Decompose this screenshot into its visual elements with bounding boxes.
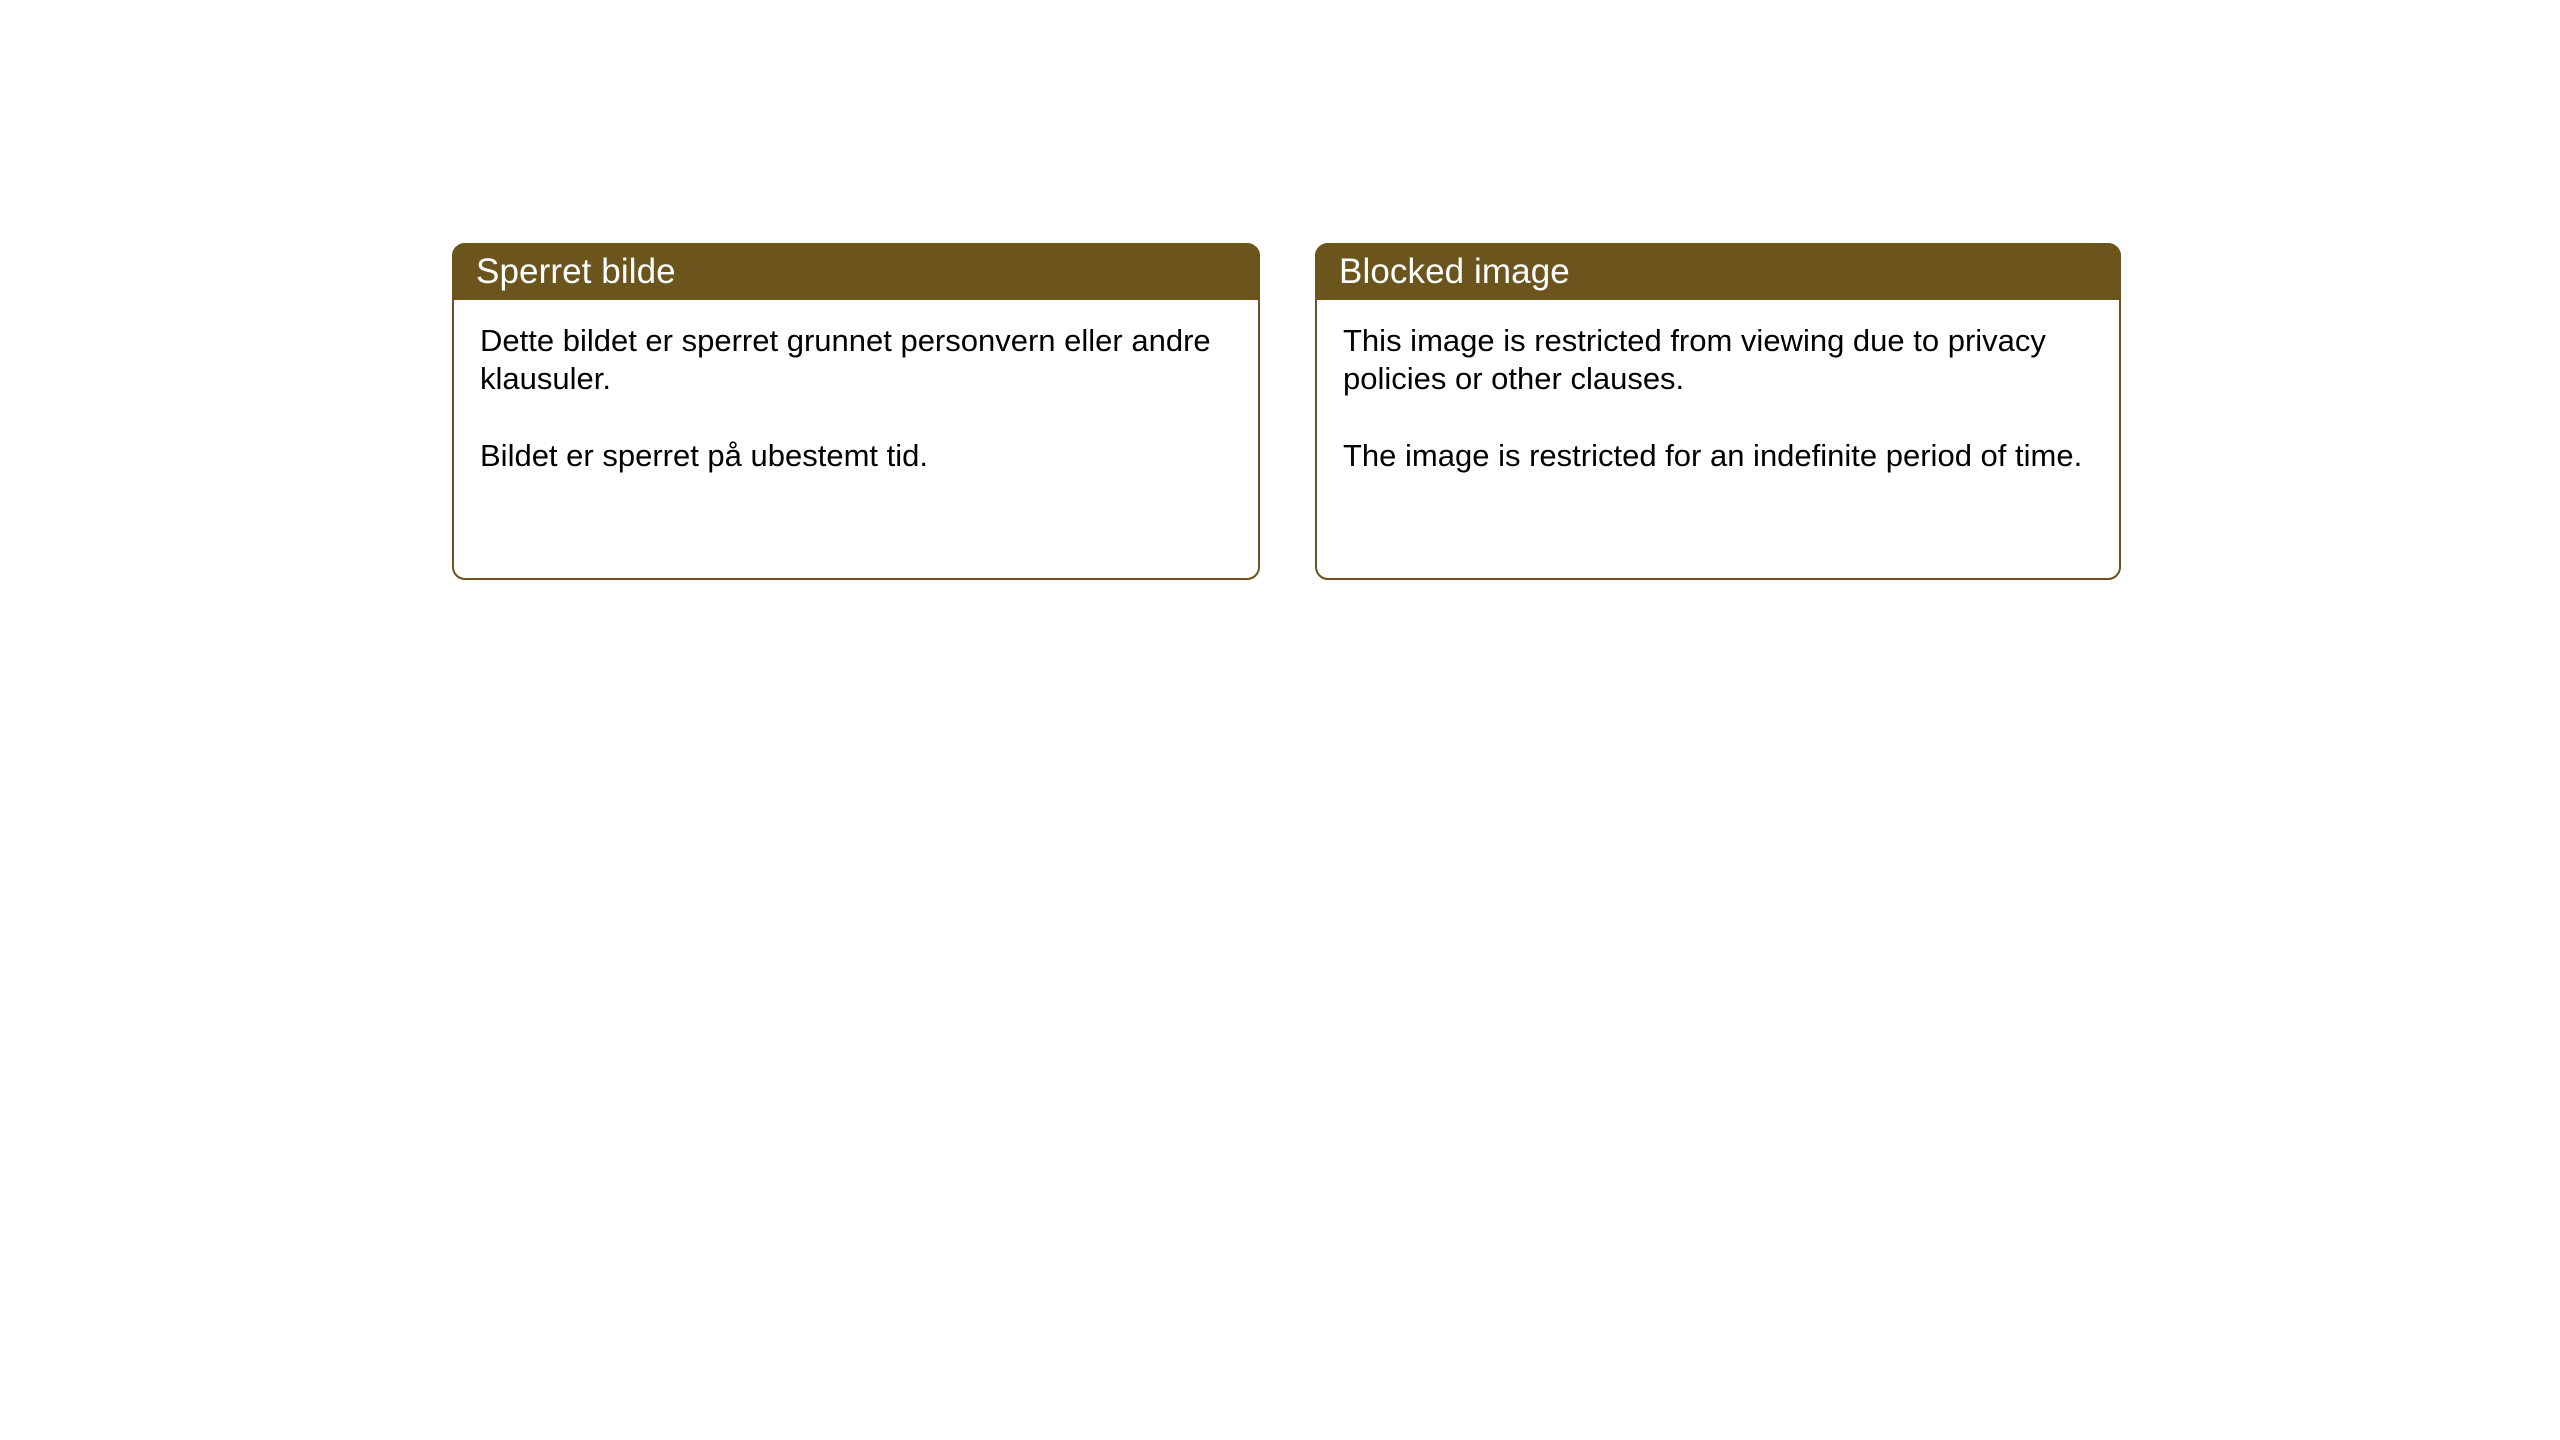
card-body-no: Dette bildet er sperret grunnet personve…	[454, 300, 1262, 475]
page-container: Sperret bilde Dette bildet er sperret gr…	[0, 0, 2560, 1440]
card-title-en: Blocked image	[1315, 254, 1570, 289]
card-paragraph-primary-no: Dette bildet er sperret grunnet personve…	[480, 322, 1236, 399]
blocked-image-notice-card-no: Sperret bilde Dette bildet er sperret gr…	[452, 243, 1260, 580]
card-paragraph-primary-en: This image is restricted from viewing du…	[1343, 322, 2097, 399]
card-paragraph-secondary-no: Bildet er sperret på ubestemt tid.	[480, 437, 1236, 475]
blocked-image-notice-card-en: Blocked image This image is restricted f…	[1315, 243, 2121, 580]
card-paragraph-secondary-en: The image is restricted for an indefinit…	[1343, 437, 2097, 475]
card-title-no: Sperret bilde	[452, 254, 676, 289]
card-body-en: This image is restricted from viewing du…	[1317, 300, 2123, 475]
card-header-no: Sperret bilde	[452, 243, 1260, 300]
card-header-en: Blocked image	[1315, 243, 2121, 300]
